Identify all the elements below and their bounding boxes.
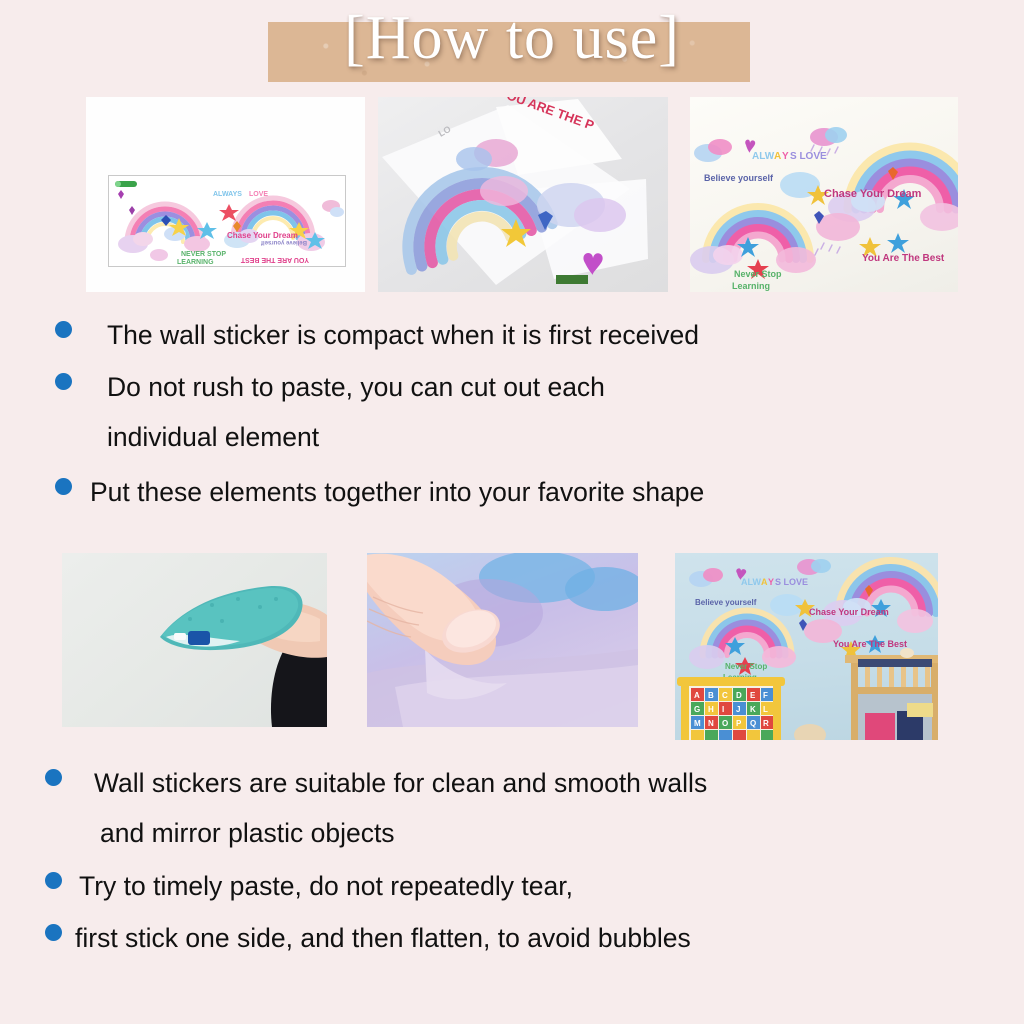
svg-text:Chase Your Dream: Chase Your Dream <box>809 607 889 617</box>
svg-text:LEARNING: LEARNING <box>177 259 214 266</box>
svg-text:LOVE: LOVE <box>249 191 268 198</box>
svg-text:You Are The Best: You Are The Best <box>833 639 907 649</box>
steps-top-list: The wall sticker is compact when it is f… <box>55 310 955 517</box>
photo-peel-backing <box>367 553 638 727</box>
svg-text:C: C <box>722 691 728 700</box>
bullet-dot-icon <box>55 373 72 390</box>
steps-bottom-list: Wall stickers are suitable for clean and… <box>45 758 985 963</box>
svg-text:G: G <box>694 705 700 714</box>
photo-kids-room-result: ALW A Y S LOVE Believe yourself Chase Yo… <box>675 553 938 740</box>
svg-text:Believe yourself: Believe yourself <box>704 173 774 183</box>
photo-sticker-sheet-flat: ALWAYS LOVE Chase Your Dream Believe you… <box>86 97 365 292</box>
svg-text:Y: Y <box>768 577 774 587</box>
bullet-dot-icon <box>55 478 72 495</box>
svg-text:I: I <box>722 705 724 714</box>
svg-text:Q: Q <box>750 719 756 728</box>
bullet-dot-icon <box>45 872 62 889</box>
list-item-label: Do not rush to paste, you can cut out ea… <box>107 362 605 412</box>
photo-cut-out-pieces: OU ARE THE P LO <box>378 97 668 292</box>
svg-text:NEVER STOP: NEVER STOP <box>181 251 226 258</box>
svg-text:Never Stop: Never Stop <box>725 662 767 671</box>
sticker-sheet-art: ALWAYS LOVE Chase Your Dream Believe you… <box>86 97 365 292</box>
list-item-label: Wall stickers are suitable for clean and… <box>94 758 707 808</box>
svg-text:ALWAYS: ALWAYS <box>213 191 242 198</box>
svg-text:Learning: Learning <box>732 281 770 291</box>
svg-text:ALW: ALW <box>752 151 775 162</box>
svg-text:D: D <box>736 691 742 700</box>
list-item-continuation: and mirror plastic objects <box>100 808 707 858</box>
svg-text:B: B <box>708 691 714 700</box>
list-item: Put these elements together into your fa… <box>55 467 955 517</box>
list-item: Try to timely paste, do not repeatedly t… <box>45 861 985 911</box>
page-title: [How to use] <box>0 0 1024 92</box>
svg-text:A: A <box>774 151 781 162</box>
bullet-dot-icon <box>45 769 62 786</box>
list-item-label: first stick one side, and then flatten, … <box>75 913 691 963</box>
svg-text:Chase Your Dream: Chase Your Dream <box>824 188 922 200</box>
svg-text:Never Stop: Never Stop <box>734 269 782 279</box>
list-item-label: The wall sticker is compact when it is f… <box>107 310 699 360</box>
svg-text:Y: Y <box>782 151 789 162</box>
svg-text:M: M <box>694 719 701 728</box>
svg-text:A: A <box>694 691 700 700</box>
svg-text:Chase Your Dream: Chase Your Dream <box>227 231 298 240</box>
svg-text:O: O <box>722 719 728 728</box>
svg-text:N: N <box>708 719 714 728</box>
list-item: Wall stickers are suitable for clean and… <box>45 758 985 858</box>
svg-text:S LOVE: S LOVE <box>790 151 827 162</box>
svg-text:A: A <box>761 577 768 587</box>
list-item-continuation: individual element <box>107 412 605 462</box>
photo-wipe-wall <box>62 553 327 727</box>
svg-text:L: L <box>763 705 768 714</box>
svg-text:F: F <box>763 691 768 700</box>
bullet-dot-icon <box>55 321 72 338</box>
svg-text:H: H <box>708 705 714 714</box>
photo-arranged-on-wall: ALW A Y S LOVE Believe yourself Chase Yo… <box>690 97 958 292</box>
svg-text:K: K <box>750 705 756 714</box>
svg-text:ALW: ALW <box>741 577 762 587</box>
list-item-label: Try to timely paste, do not repeatedly t… <box>79 861 573 911</box>
svg-text:YOU ARE THE BEST: YOU ARE THE BEST <box>240 256 309 263</box>
list-item: Do not rush to paste, you can cut out ea… <box>55 362 955 462</box>
page-title-text: [How to use] <box>0 0 1024 76</box>
how-to-use-infographic: [How to use] <box>0 0 1024 1024</box>
svg-text:J: J <box>736 705 740 714</box>
svg-text:S LOVE: S LOVE <box>775 577 808 587</box>
bullet-dot-icon <box>45 924 62 941</box>
svg-text:P: P <box>736 719 742 728</box>
list-item: The wall sticker is compact when it is f… <box>55 310 955 360</box>
svg-text:R: R <box>763 719 769 728</box>
svg-text:E: E <box>750 691 756 700</box>
list-item: first stick one side, and then flatten, … <box>45 913 985 963</box>
list-item-label: Put these elements together into your fa… <box>90 467 704 517</box>
svg-text:You Are The Best: You Are The Best <box>862 253 945 264</box>
svg-text:Believe yourself: Believe yourself <box>260 239 307 245</box>
svg-text:Believe yourself: Believe yourself <box>695 598 757 607</box>
